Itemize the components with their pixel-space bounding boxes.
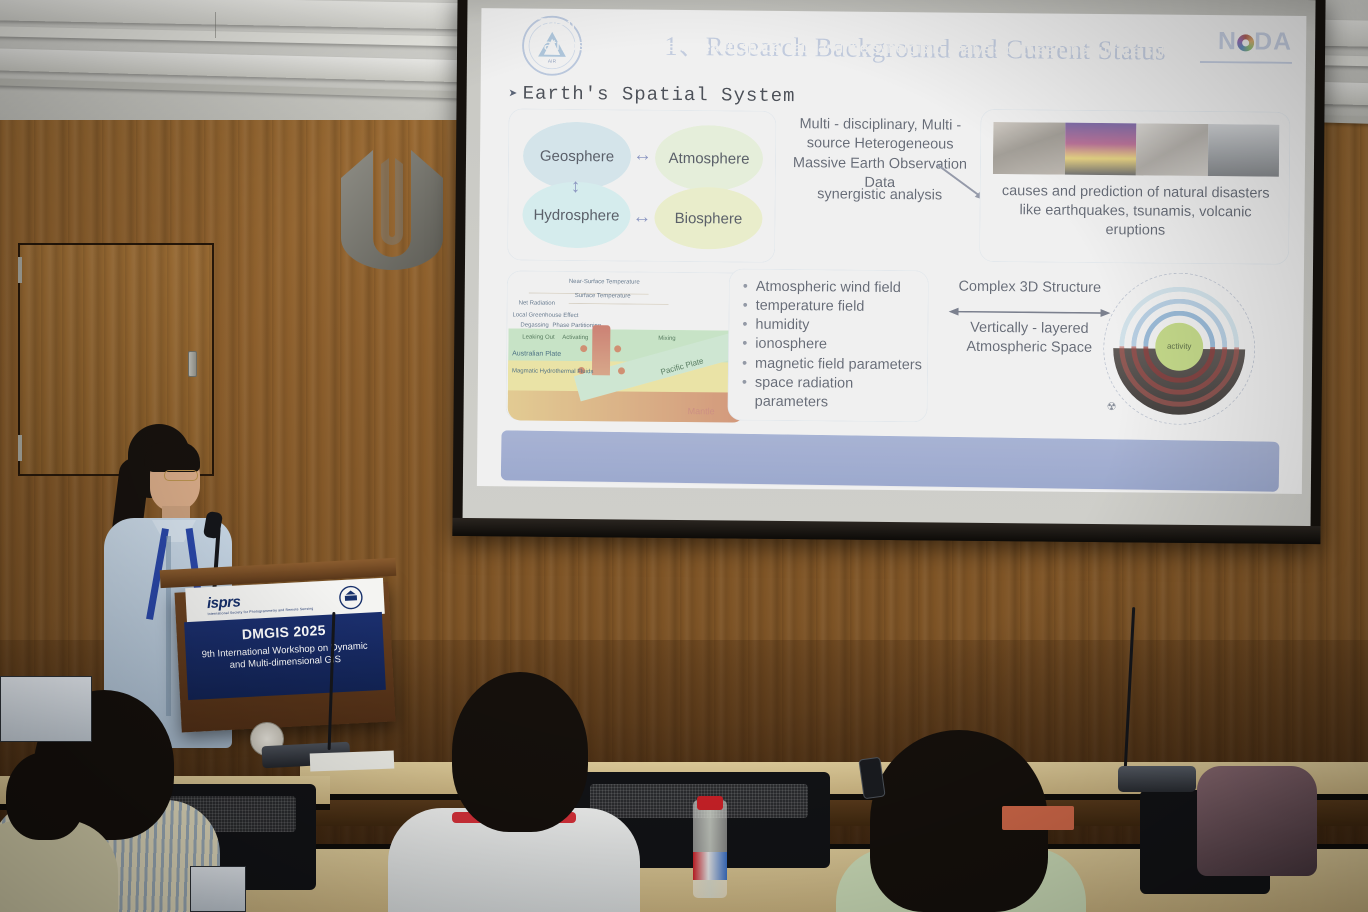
conference-desk-microphone[interactable] <box>1118 766 1196 792</box>
arrow-vertical-icon: ↕ <box>571 176 581 198</box>
layered-earth-atmosphere-diagram: activity ☢ <box>1102 272 1255 425</box>
open-laptop[interactable] <box>190 866 246 912</box>
university-wall-emblem-icon <box>333 142 451 270</box>
list-item: magnetic field parameters <box>739 354 925 375</box>
list-item: humidity <box>739 316 925 337</box>
cross-label: Activating <box>562 335 588 341</box>
shirt-placket <box>166 536 171 716</box>
cross-label: Surface Temperature <box>575 293 631 300</box>
bottle-label <box>693 852 727 880</box>
magma-blob <box>614 345 621 352</box>
isprs-logo: isprs International Society for Photogra… <box>207 589 314 616</box>
door-hinge-icon <box>18 257 22 283</box>
svg-text:AIR: AIR <box>548 59 557 65</box>
list-item: temperature field <box>740 297 926 318</box>
summary-banner <box>501 430 1280 492</box>
water-bottle[interactable] <box>693 800 727 898</box>
sphere-label: Atmosphere <box>669 149 750 167</box>
arrow-horizontal-icon: ↔ <box>633 145 652 167</box>
complex-structure-label: Complex 3D Structure <box>942 279 1118 297</box>
notebook <box>1002 806 1074 830</box>
podium-event-sign: DMGIS 2025 9th International Workshop on… <box>184 612 386 700</box>
parameters-card: Atmospheric wind field temperature field… <box>728 268 929 422</box>
cross-label: Leaking Out <box>522 334 554 340</box>
collapsed-buildings-photo <box>1136 123 1208 176</box>
tectonic-cross-section-card: Near-Surface Temperature Surface Tempera… <box>506 270 747 422</box>
projection-screen: AIR 1、Research Background and Current St… <box>452 0 1325 544</box>
vertical-layer-label: Vertically - layered Atmospheric Space <box>941 319 1117 359</box>
hair-front <box>144 442 200 472</box>
sphere-label: Geosphere <box>540 147 614 165</box>
spheres-card: Geosphere Atmosphere Hydrosphere Biosphe… <box>507 108 776 263</box>
event-subtitle: 9th International Workshop on Dynamic an… <box>186 640 385 675</box>
tectonic-cross-section-diagram: Near-Surface Temperature Surface Tempera… <box>508 272 747 422</box>
disaster-caption: causes and prediction of natural disaste… <box>990 182 1281 242</box>
hanging-wire <box>215 12 216 38</box>
door-hinge-icon <box>18 435 22 461</box>
sphere-biosphere: Biosphere <box>654 187 763 250</box>
tsunami-coast-photo <box>1207 124 1279 177</box>
presentation-slide: AIR 1、Research Background and Current St… <box>477 8 1307 494</box>
list-item: ionosphere <box>739 335 925 356</box>
globe-core-label: activity <box>1167 342 1192 351</box>
cross-label: Magmatic Hydrothermal Fluids <box>512 368 593 375</box>
volcano-thermal-photo <box>1064 123 1136 176</box>
disaster-photo-strip <box>993 122 1279 177</box>
eyeglasses-icon <box>164 470 198 481</box>
screen-surface: AIR 1、Research Background and Current St… <box>462 0 1315 534</box>
university-emblem-icon <box>338 585 363 610</box>
head <box>6 752 84 840</box>
paper-sheet <box>310 751 395 772</box>
backpack <box>1197 766 1317 876</box>
open-laptop[interactable] <box>0 676 92 742</box>
disaster-images-card: causes and prediction of natural disaste… <box>979 109 1290 265</box>
slide-subheading-text: Earth's Spatial System <box>523 82 796 107</box>
cross-label: Near-Surface Temperature <box>569 279 640 286</box>
magma-blob <box>618 367 625 374</box>
door-handle-icon[interactable] <box>188 351 197 377</box>
magma-blob <box>580 345 587 352</box>
summary-banner-text: The three - dimensional spatial grid cov… <box>499 14 1243 63</box>
noda-text-after: DA <box>1254 27 1292 55</box>
slide-subheading: ➤Earth's Spatial System <box>509 82 796 107</box>
cross-label: Net Radiation <box>519 300 555 306</box>
bullet-caret-icon: ➤ <box>509 86 519 103</box>
head <box>452 672 588 832</box>
cross-label: Australian Plate <box>512 350 561 357</box>
arrow-horizontal-icon: ↔ <box>632 207 651 229</box>
parameters-list: Atmospheric wind field temperature field… <box>739 278 926 414</box>
cross-label: Local Greenhouse Effect <box>512 312 578 319</box>
list-item: Atmospheric wind field <box>740 278 926 299</box>
sphere-label: Biosphere <box>675 209 743 227</box>
radioactive-icon: ☢ <box>1107 400 1117 413</box>
volcanic-vent <box>592 325 610 375</box>
bottle-cap-icon <box>697 796 723 810</box>
cross-label: Mantle <box>688 406 715 416</box>
earthquake-rubble-photo <box>993 122 1065 175</box>
globe-core: activity <box>1155 323 1203 371</box>
cross-label: Mixing <box>658 336 675 342</box>
sphere-atmosphere: Atmosphere <box>655 125 764 192</box>
sphere-label: Hydrosphere <box>533 206 619 224</box>
list-item: space radiation parameters <box>739 373 925 413</box>
lecture-hall-photo: AIR 1、Research Background and Current St… <box>0 0 1368 912</box>
